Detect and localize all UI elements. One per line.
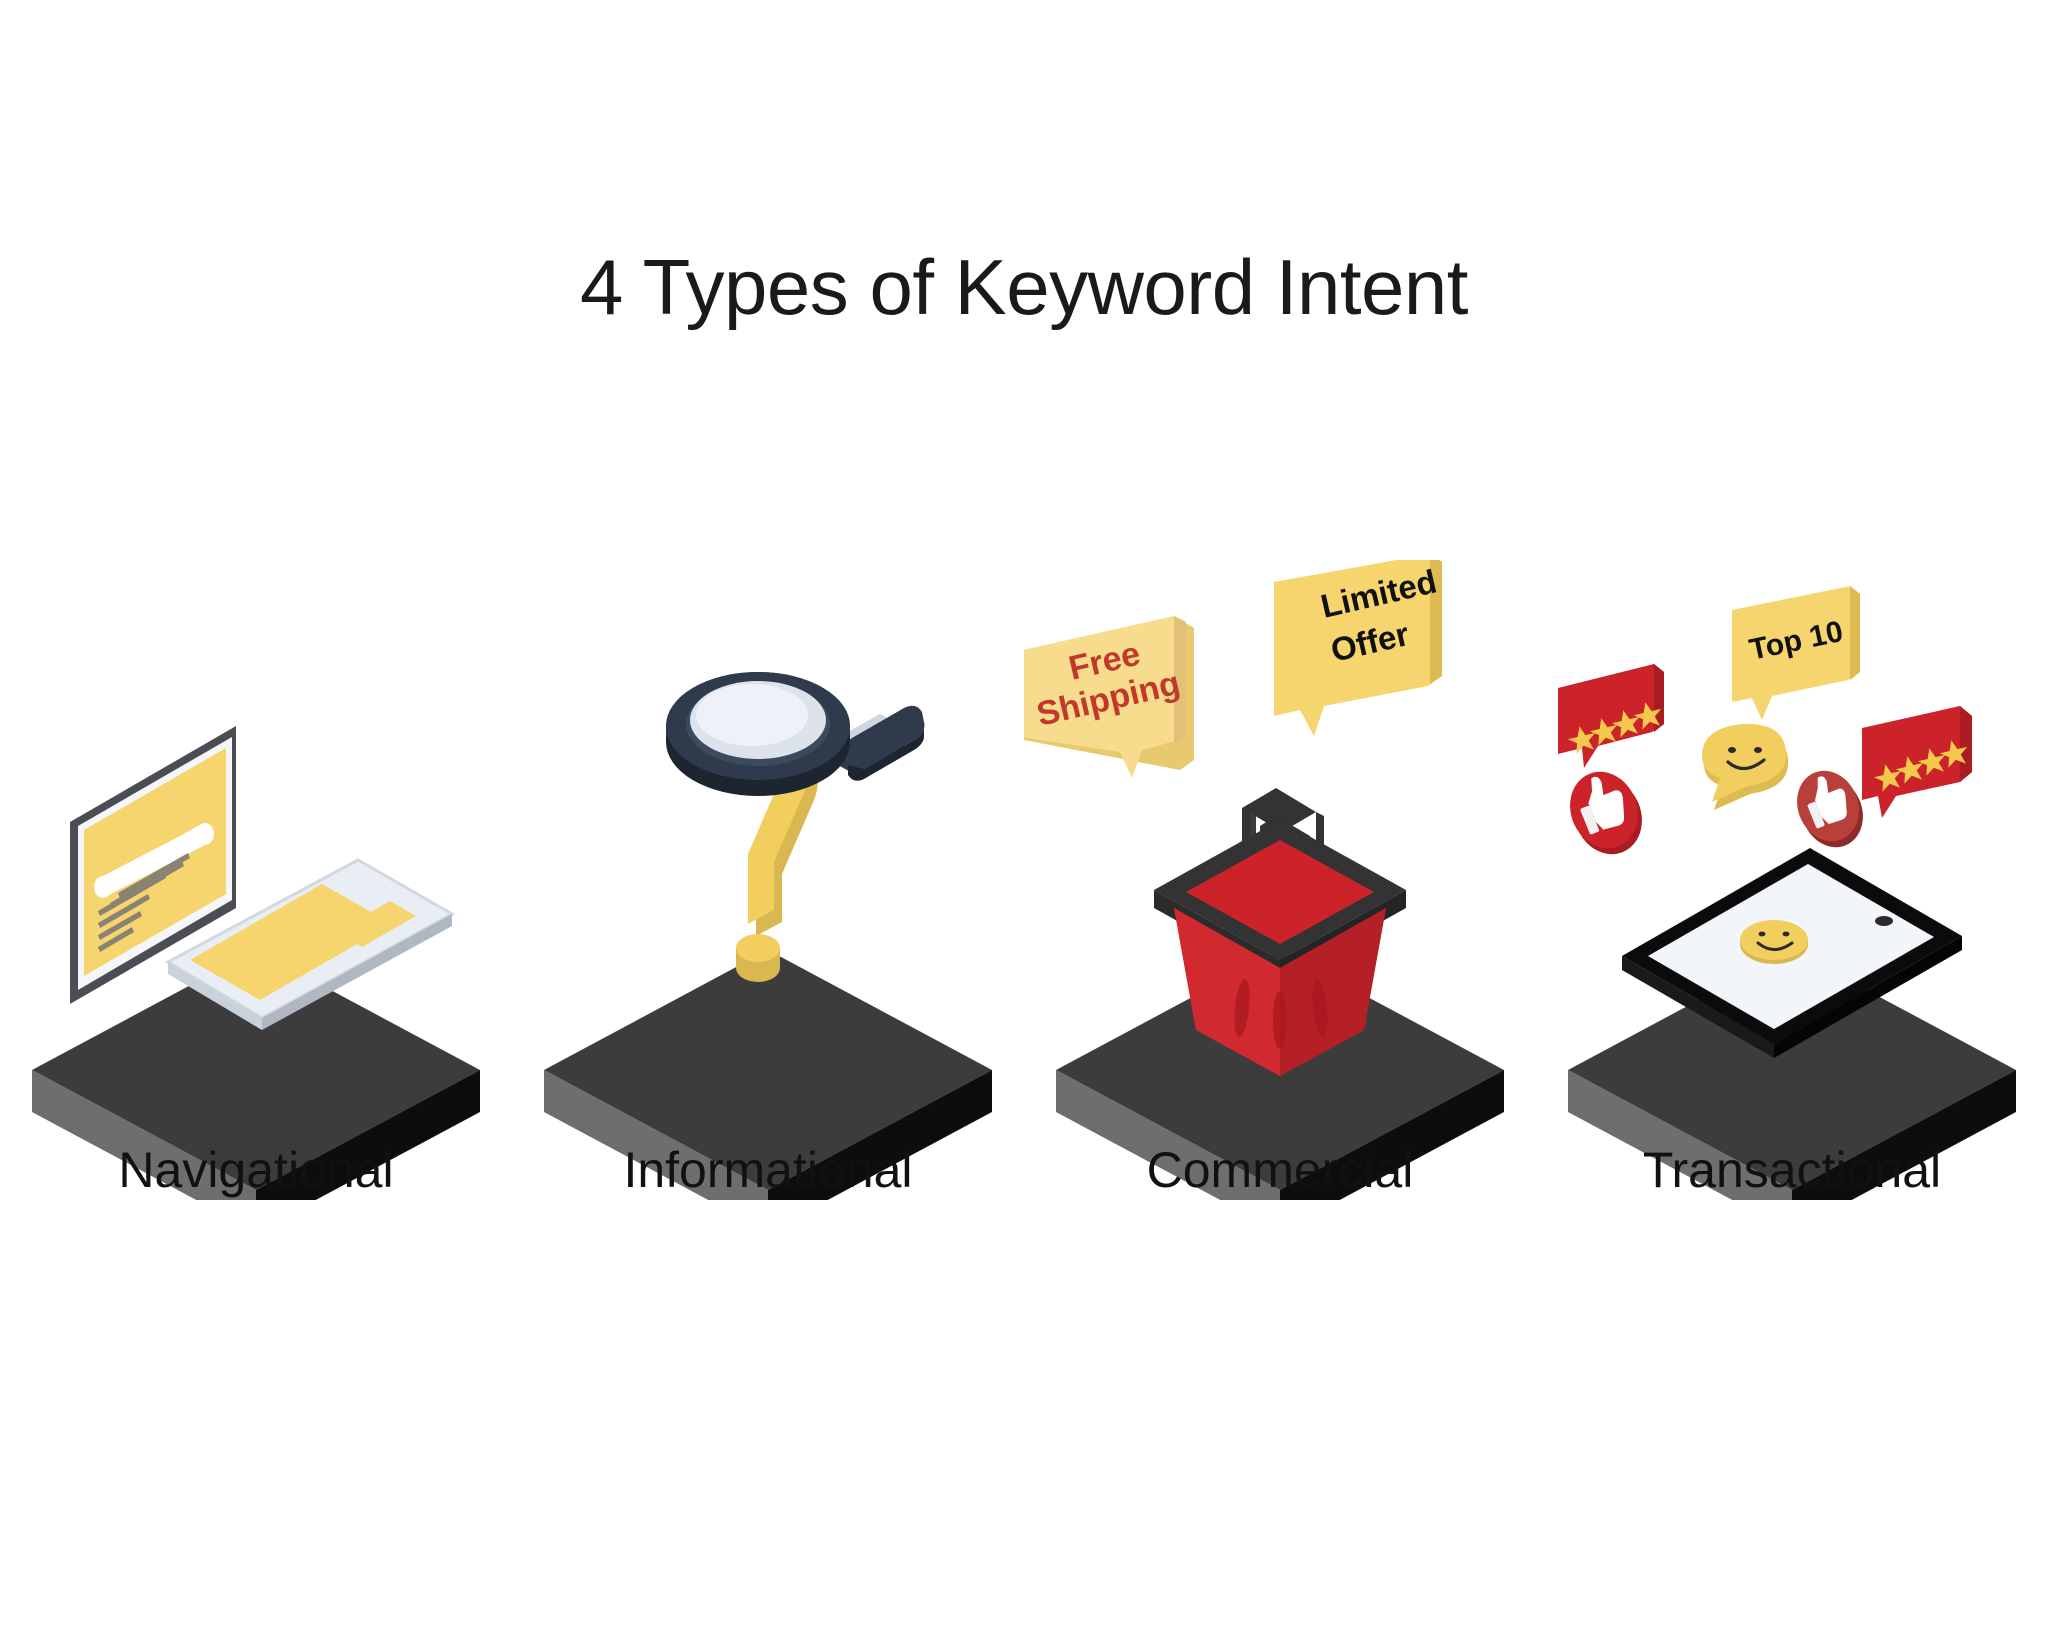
top10-bubble: Top 10 <box>1732 586 1860 720</box>
star-bubble-left <box>1558 664 1665 768</box>
magnifying-glass <box>666 672 924 796</box>
label-informational: Informational <box>512 1144 1024 1197</box>
limited-offer-bubble: Limited Offer <box>1274 560 1442 736</box>
smiley-screen <box>1740 920 1808 964</box>
free-shipping-bubble: Free Shipping <box>1024 616 1194 778</box>
label-transactional: Transactional <box>1536 1144 2048 1197</box>
label-commercial: Commercial <box>1024 1144 1536 1197</box>
tablet-reviews-icon: Top 10 <box>1536 560 2048 1200</box>
infographic-canvas: 4 Types of Keyword Intent <box>0 0 2048 1639</box>
intent-card-informational[interactable] <box>512 560 1024 1200</box>
page-title: 4 Types of Keyword Intent <box>0 248 2048 326</box>
intent-card-transactional[interactable]: Top 10 <box>1536 560 2048 1200</box>
intent-card-navigational[interactable] <box>0 560 512 1200</box>
thumbs-up-right <box>1787 761 1874 856</box>
thumbs-up-left <box>1559 761 1653 864</box>
star-bubble-right <box>1862 706 1972 818</box>
intent-labels-row: Navigational Informational Commercial Tr… <box>0 1125 2048 1215</box>
label-navigational: Navigational <box>0 1144 512 1197</box>
smiley-bubble <box>1702 724 1788 810</box>
intent-cards-row: Free Shipping Limited Offer <box>0 560 2048 1200</box>
intent-card-commercial[interactable]: Free Shipping Limited Offer <box>1024 560 1536 1200</box>
shopping-basket-icon: Free Shipping Limited Offer <box>1024 560 1536 1200</box>
laptop-icon <box>0 560 512 1200</box>
magnifier-question-icon <box>512 560 1024 1200</box>
